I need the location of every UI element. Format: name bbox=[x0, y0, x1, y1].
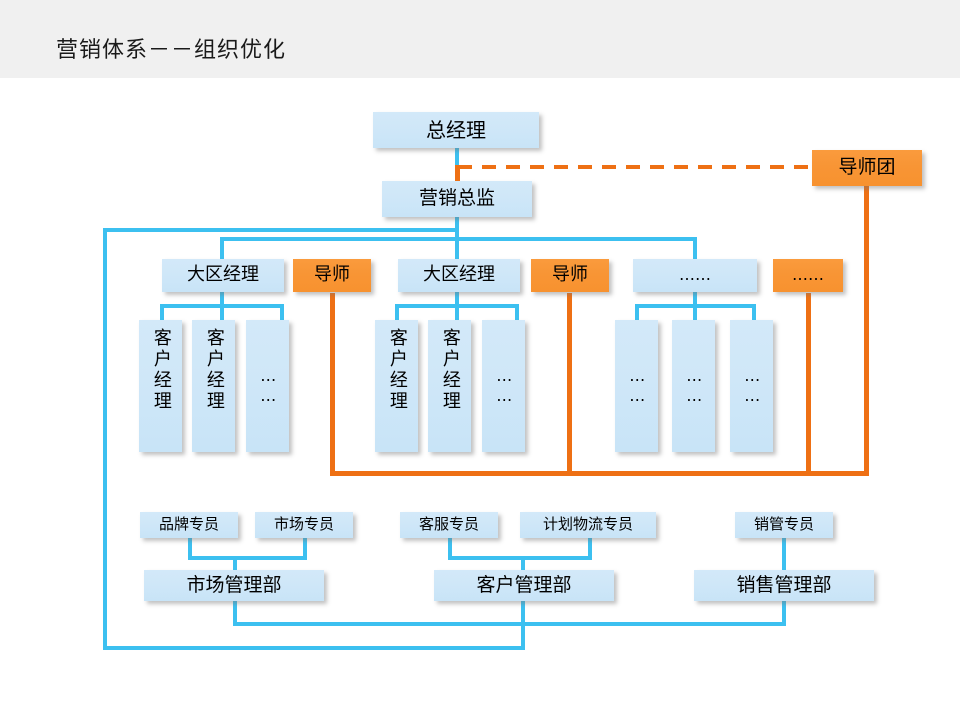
node-label: 总经理 bbox=[426, 119, 486, 142]
node-mentor-1[interactable]: 导师 bbox=[293, 259, 371, 292]
node-customer-management-dept[interactable]: 客户管理部 bbox=[434, 570, 614, 601]
node-brand-specialist[interactable]: 品牌专员 bbox=[140, 512, 238, 538]
node-label: 市场专员 bbox=[274, 516, 334, 533]
node-label: 客户经理 bbox=[150, 328, 171, 412]
node-logistics-specialist[interactable]: 计划物流专员 bbox=[520, 512, 656, 538]
node-mentor-more[interactable]: …… bbox=[773, 259, 843, 292]
node-market-specialist[interactable]: 市场专员 bbox=[255, 512, 353, 538]
edge-left-spine-vertical bbox=[103, 228, 107, 650]
node-mentor-2[interactable]: 导师 bbox=[531, 259, 609, 292]
node-label: 导师团 bbox=[838, 157, 895, 179]
edge-rm1-drop-b bbox=[220, 304, 224, 320]
node-label: …… bbox=[258, 366, 276, 406]
node-account-manager-3[interactable]: 客户经理 bbox=[375, 320, 418, 452]
edge-bus-drop-rmmore bbox=[693, 237, 697, 260]
node-label: 客户管理部 bbox=[476, 575, 571, 597]
node-account-manager-more-2[interactable]: …… bbox=[482, 320, 525, 452]
edge-rm1-drop-a bbox=[160, 304, 164, 320]
node-label: 市场管理部 bbox=[186, 575, 281, 597]
node-label: 营销总监 bbox=[419, 188, 495, 210]
node-marketing-director[interactable]: 营销总监 bbox=[382, 181, 532, 217]
edge-gm-to-mentorteam-dashed bbox=[458, 165, 810, 169]
edge-rm2-drop-c bbox=[515, 304, 519, 320]
edge-bus-drop-rm2 bbox=[455, 237, 459, 260]
node-label: …… bbox=[627, 366, 645, 406]
edge-gm-dashed-stub bbox=[455, 165, 460, 182]
node-account-manager-more-4[interactable]: …… bbox=[672, 320, 715, 452]
edge-mentormore-drop bbox=[806, 293, 811, 475]
node-account-manager-more-1[interactable]: …… bbox=[246, 320, 289, 452]
node-label: 大区经理 bbox=[187, 265, 259, 286]
edge-mentor2-drop bbox=[567, 293, 572, 475]
edge-rm1-drop-c bbox=[280, 304, 284, 320]
node-label: 客户经理 bbox=[386, 328, 407, 412]
node-label: 计划物流专员 bbox=[543, 516, 633, 533]
edge-mentor-bus bbox=[330, 471, 869, 476]
node-market-management-dept[interactable]: 市场管理部 bbox=[144, 570, 324, 601]
node-label: …… bbox=[742, 366, 760, 406]
node-label: …… bbox=[792, 266, 824, 284]
node-sales-admin-specialist[interactable]: 销管专员 bbox=[735, 512, 833, 538]
title-bar: 营销体系－－组织优化 bbox=[0, 0, 960, 82]
edge-left-spine-top bbox=[103, 228, 455, 232]
node-label: 导师 bbox=[552, 265, 588, 286]
edge-rm2-drop-b bbox=[455, 304, 459, 320]
edge-rmmore-drop-a bbox=[635, 304, 639, 320]
edge-salessp-drop bbox=[782, 538, 786, 572]
node-regional-manager-1[interactable]: 大区经理 bbox=[162, 259, 284, 292]
node-account-manager-more-3[interactable]: …… bbox=[615, 320, 658, 452]
node-regional-manager-2[interactable]: 大区经理 bbox=[398, 259, 520, 292]
node-label: 品牌专员 bbox=[159, 516, 219, 533]
edge-mkt-join-bus bbox=[188, 556, 307, 560]
edge-department-bus bbox=[233, 622, 786, 626]
node-label: 大区经理 bbox=[423, 265, 495, 286]
node-label: 客户经理 bbox=[439, 328, 460, 412]
node-label: …… bbox=[679, 266, 711, 284]
node-account-manager-1[interactable]: 客户经理 bbox=[139, 320, 182, 452]
node-label: …… bbox=[494, 366, 512, 406]
node-regional-manager-more[interactable]: …… bbox=[633, 259, 757, 292]
node-label: …… bbox=[684, 366, 702, 406]
node-label: 销售管理部 bbox=[736, 575, 831, 597]
node-label: 客服专员 bbox=[419, 516, 479, 533]
edge-mentorteam-vertical bbox=[864, 186, 869, 476]
edge-rm2-drop-a bbox=[395, 304, 399, 320]
edge-cust-join-bus bbox=[448, 556, 592, 560]
node-label: 客户经理 bbox=[203, 328, 224, 412]
edge-bottom-bus-lower bbox=[103, 646, 524, 650]
slide-canvas: 营销体系－－组织优化 bbox=[0, 0, 960, 720]
node-account-manager-4[interactable]: 客户经理 bbox=[428, 320, 471, 452]
page-title: 营销体系－－组织优化 bbox=[56, 32, 286, 64]
edge-bus-drop-rm1 bbox=[220, 237, 224, 260]
node-account-manager-2[interactable]: 客户经理 bbox=[192, 320, 235, 452]
node-account-manager-more-5[interactable]: …… bbox=[730, 320, 773, 452]
node-label: 销管专员 bbox=[754, 516, 814, 533]
node-mentor-team[interactable]: 导师团 bbox=[812, 150, 922, 186]
node-general-manager[interactable]: 总经理 bbox=[373, 112, 539, 148]
node-sales-management-dept[interactable]: 销售管理部 bbox=[694, 570, 874, 601]
node-label: 导师 bbox=[314, 265, 350, 286]
edge-mentor1-drop bbox=[330, 293, 335, 475]
edge-rmmore-drop-c bbox=[752, 304, 756, 320]
edge-rmmore-drop-b bbox=[693, 304, 697, 320]
node-customer-service-specialist[interactable]: 客服专员 bbox=[400, 512, 498, 538]
